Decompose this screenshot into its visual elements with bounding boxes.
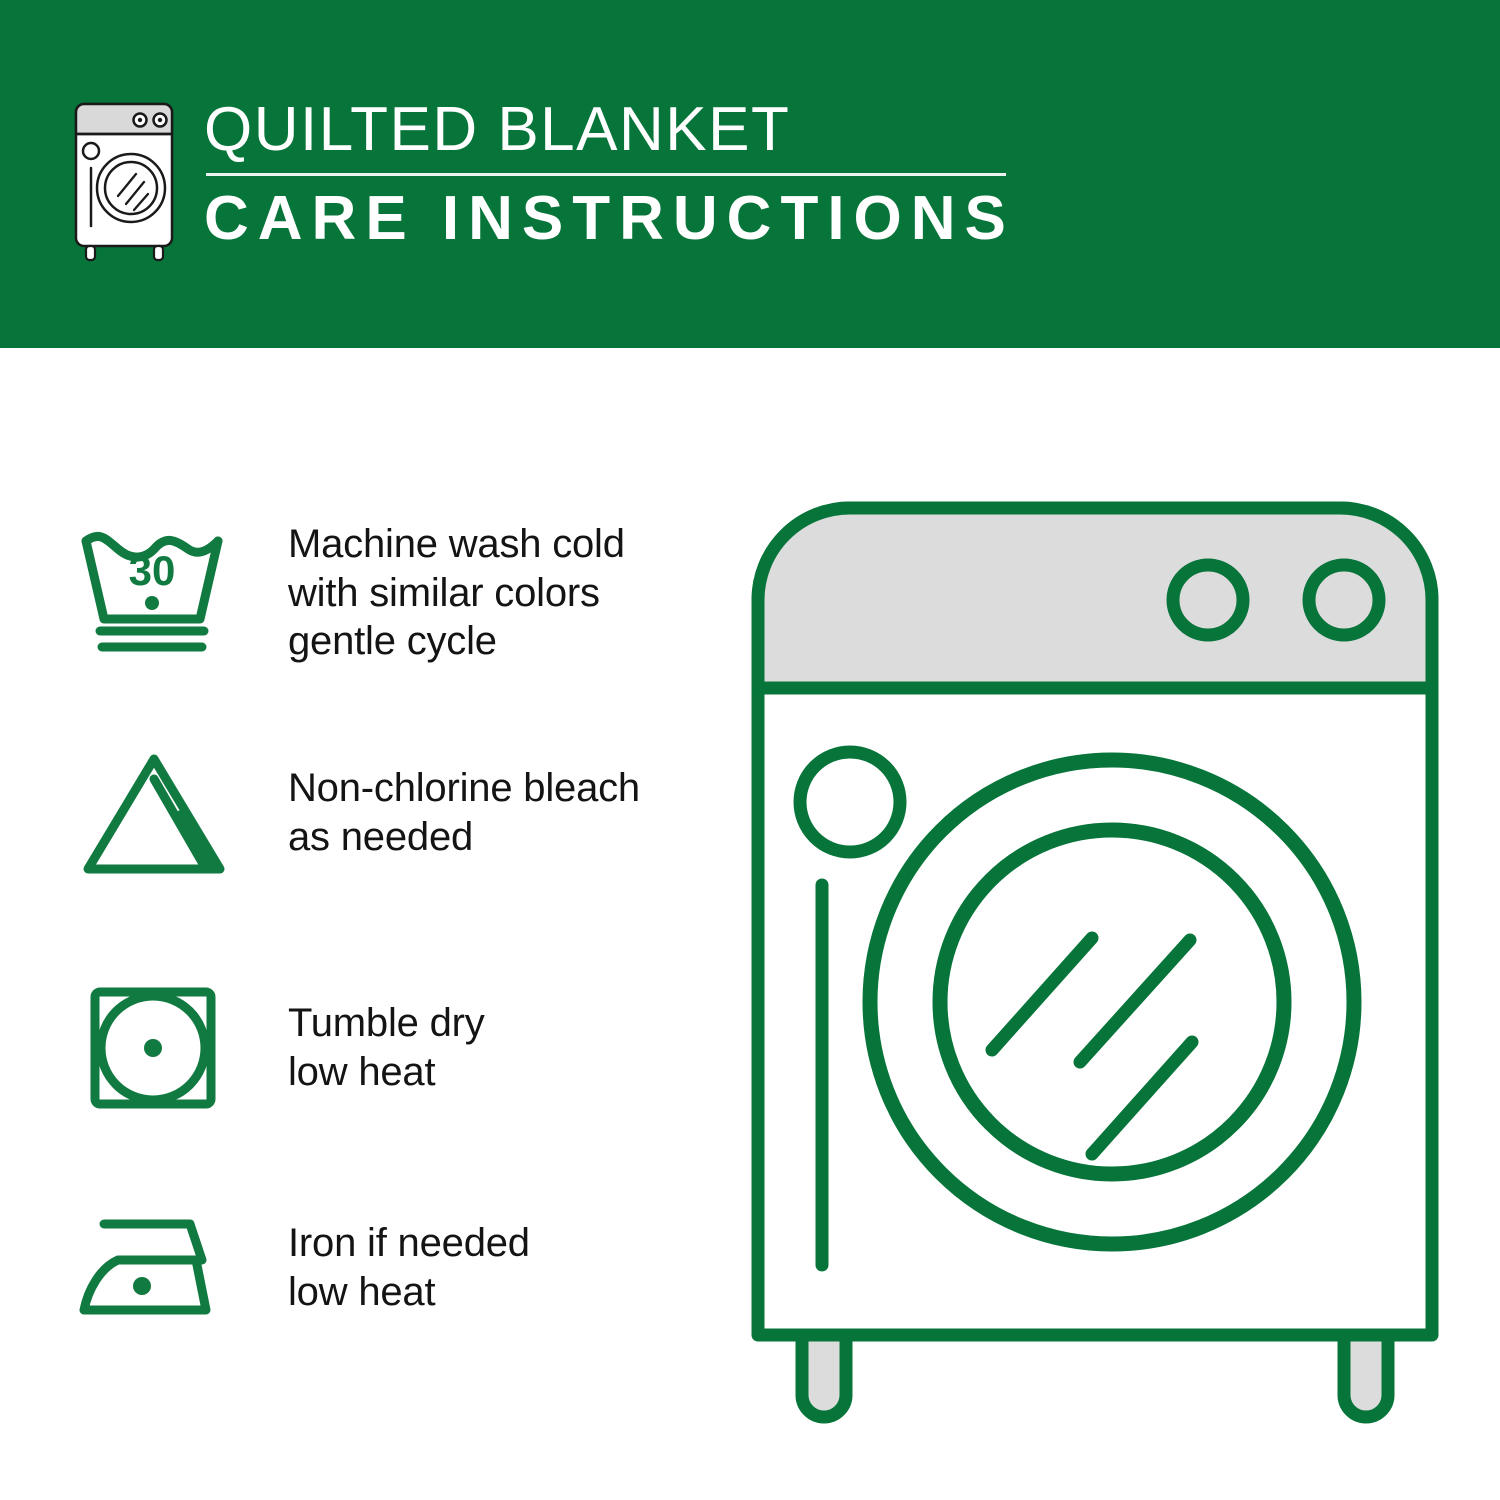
tumble-dry-low-symbol — [70, 973, 240, 1123]
iron-low-heat-symbol — [70, 1193, 240, 1343]
washer-leg-right — [1344, 1335, 1388, 1417]
care-text-machine-wash: Machine wash cold with similar colors ge… — [288, 520, 625, 666]
care-row-tumble-dry: Tumble dry low heat — [70, 973, 710, 1123]
page-subtitle: CARE INSTRUCTIONS — [204, 186, 1015, 251]
care-text-iron: Iron if needed low heat — [288, 1219, 530, 1317]
washer-knob-2 — [1309, 565, 1379, 635]
page-title: QUILTED BLANKET — [204, 98, 1015, 161]
wash-temperature-value: 30 — [129, 547, 176, 594]
header-content: QUILTED BLANKET CARE INSTRUCTIONS — [62, 96, 1015, 264]
washer-leg-left — [802, 1335, 846, 1417]
washing-machine-logo-icon — [62, 96, 188, 264]
washer-indicator-circle — [800, 752, 900, 852]
care-row-bleach: Non-chlorine bleach as needed — [70, 738, 710, 888]
washer-knob-1 — [1173, 565, 1243, 635]
care-row-machine-wash: 30 Machine wash cold with similar colors… — [70, 518, 710, 668]
care-instructions-list: 30 Machine wash cold with similar colors… — [0, 348, 740, 1500]
front-load-washing-machine-illustration — [740, 490, 1450, 1440]
care-row-iron: Iron if needed low heat — [70, 1193, 710, 1343]
header-title-group: QUILTED BLANKET CARE INSTRUCTIONS — [204, 96, 1015, 251]
page-header: QUILTED BLANKET CARE INSTRUCTIONS — [0, 0, 1500, 348]
care-text-bleach: Non-chlorine bleach as needed — [288, 764, 640, 862]
care-text-tumble-dry: Tumble dry low heat — [288, 999, 485, 1097]
title-divider — [206, 173, 1006, 176]
machine-wash-30-symbol: 30 — [70, 518, 240, 668]
non-chlorine-bleach-symbol — [70, 738, 240, 888]
